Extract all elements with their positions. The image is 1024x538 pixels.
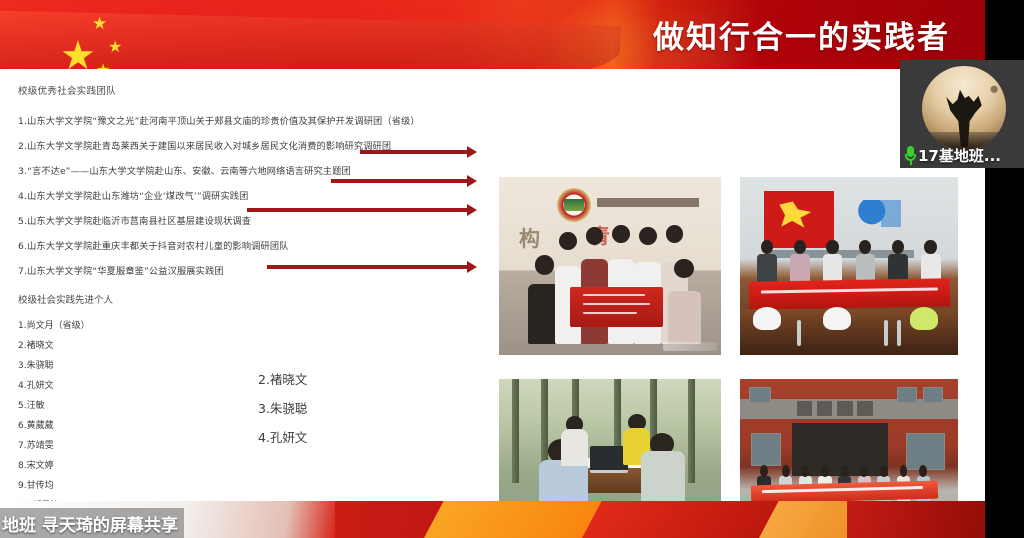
highlighted-name: 3.朱骁聪 [258, 398, 307, 417]
person-name: 5.汪敏 [18, 398, 45, 411]
meeting-screen-share-window: ★ ★ ★ ★ 做知行合一的实践者 校级优秀社会实践团队 1.山东大学文学院“豫… [0, 0, 1024, 538]
team-list-item: 6.山东大学文学院赴重庆丰都关于抖音对农村儿童的影响调研团队 [18, 232, 488, 257]
photo3-tree [512, 379, 519, 483]
photo1-person [668, 291, 701, 344]
footer-shape-5 [847, 501, 985, 538]
highlighted-name: 2.褚晓文 [258, 369, 307, 388]
photo4-window [923, 387, 943, 402]
person-name: 9.甘传均 [18, 478, 54, 491]
community-group-photo: 构 青 [499, 177, 721, 355]
participant-video-tile[interactable]: 17基地班... [900, 60, 1024, 168]
company-logo-icon [856, 200, 902, 227]
participant-name: 17基地班... [918, 145, 1001, 166]
slide-title-block: 做知行合一的实践者 [615, 0, 985, 69]
photo2-safety-hat [753, 307, 781, 330]
slide-header-banner: ★ ★ ★ ★ 做知行合一的实践者 [0, 0, 985, 69]
person-name: 1.尚文月（省级） [18, 318, 90, 331]
photo1-head [535, 255, 555, 275]
photo2-safety-hat [823, 307, 851, 330]
team-list-item: 4.山东大学文学院赴山东潍坊“企业‘煤改气’”调研实践团 [18, 182, 488, 207]
screen-share-notice-bar: 地班 寻天琦的屏幕共享 [0, 508, 184, 538]
photo4-window [906, 433, 945, 470]
team-item-text: 3.“言不达e”——山东大学文学院赴山东、安徽、云南等六地网络语言研究主题团 [18, 163, 351, 177]
persons-heading: 校级社会实践先进个人 [18, 292, 488, 306]
team-list-item: 2.山东大学文学院赴青岛莱西关于建国以来居民收入对城乡居民文化消费的影响研究调研… [18, 132, 488, 157]
team-list-item: 7.山东大学文学院“华夏服章鉴”公益汉服展实践团 [18, 257, 488, 282]
photo3-person [561, 429, 588, 466]
photo2-water-bottle [897, 320, 901, 346]
participant-label: 17基地班... [904, 145, 1001, 166]
team-list-item: 1.山东大学文学院“豫文之光”赴河南平顶山关于郏县文庙的珍贵价值及其保护开发调研… [18, 107, 488, 132]
team-item-text: 2.山东大学文学院赴青岛莱西关于建国以来居民收入对城乡居民文化消费的影响研究调研… [18, 138, 391, 152]
person-list-item: 5.汪敏 [18, 394, 488, 414]
community-emblem-icon [557, 188, 591, 222]
person-list-item: 6.黄葳葳 [18, 414, 488, 434]
person-list-item: 8.宋文婷 [18, 454, 488, 474]
person-list-item: 7.苏靖雯 [18, 434, 488, 454]
flag-star-large-icon: ★ [60, 36, 96, 69]
team-item-text: 7.山东大学文学院“华夏服章鉴”公益汉服展实践团 [18, 263, 224, 277]
photo3-tree [688, 379, 695, 483]
highlighted-names-column: 2.褚晓文 3.朱骁聪 4.孔妍文 [258, 369, 307, 456]
person-list-item: 1.尚文月（省级） [18, 314, 488, 334]
slide-body: 校级优秀社会实践团队 1.山东大学文学院“豫文之光”赴河南平顶山关于郏县文庙的珍… [0, 69, 985, 501]
highlighted-name: 4.孔妍文 [258, 427, 307, 446]
team-item-text: 6.山东大学文学院赴重庆丰都关于抖音对农村儿童的影响调研团队 [18, 238, 289, 252]
photo1-watermark [663, 342, 717, 351]
photo4-window [749, 387, 771, 402]
person-list-item: 4.孔妍文 [18, 374, 488, 394]
screen-share-notice-text: 地班 寻天琦的屏幕共享 [2, 511, 178, 536]
photo2-water-bottle [884, 320, 888, 346]
person-name: 7.苏靖雯 [18, 438, 54, 451]
photo1-wall-char-1: 构 [519, 223, 540, 253]
photo3-laptop [590, 446, 628, 473]
person-name: 6.黄葳葳 [18, 418, 54, 431]
photo1-head [612, 225, 630, 243]
photo1-head [666, 225, 684, 243]
team-item-text: 1.山东大学文学院“豫文之光”赴河南平顶山关于郏县文庙的珍贵价值及其保护开发调研… [18, 113, 420, 127]
photo4-window [751, 433, 782, 467]
photo4-school-nameplate [797, 401, 889, 416]
team-list-item: 3.“言不达e”——山东大学文学院赴山东、安徽、云南等六地网络语言研究主题团 [18, 157, 488, 182]
photo1-head [559, 232, 577, 250]
slide-title: 做知行合一的实践者 [653, 12, 950, 57]
slide-text-column: 校级优秀社会实践团队 1.山东大学文学院“豫文之光”赴河南平顶山关于郏县文庙的珍… [18, 83, 488, 514]
person-name: 3.朱骁聪 [18, 358, 54, 371]
flag-star-small-icon-1: ★ [92, 16, 107, 33]
person-name: 2.褚晓文 [18, 338, 54, 351]
enterprise-visit-photo [740, 177, 958, 355]
team-list-item: 5.山东大学文学院赴临沂市莒南县社区基层建设现状调查 [18, 207, 488, 232]
person-name: 4.孔妍文 [18, 378, 54, 391]
team-item-text: 5.山东大学文学院赴临沂市莒南县社区基层建设现状调查 [18, 213, 251, 227]
photo1-red-banner [570, 287, 663, 326]
person-list-item: 2.褚晓文 [18, 334, 488, 354]
microphone-icon[interactable] [904, 146, 917, 165]
photo4-window [897, 387, 917, 402]
person-list-item: 9.甘传均 [18, 474, 488, 494]
flag-star-small-icon-2: ★ [108, 39, 122, 55]
flag-star-small-icon-3: ★ [96, 62, 110, 69]
teams-heading: 校级优秀社会实践团队 [18, 83, 488, 97]
photo2-water-bottle [797, 320, 801, 346]
photo1-head [639, 227, 657, 245]
shared-slide: ★ ★ ★ ★ 做知行合一的实践者 校级优秀社会实践团队 1.山东大学文学院“豫… [0, 0, 985, 538]
avatar [922, 66, 1006, 150]
team-item-text: 4.山东大学文学院赴山东潍坊“企业‘煤改气’”调研实践团 [18, 188, 248, 202]
photo2-red-banner [748, 278, 949, 310]
photo1-wall-sign [597, 198, 704, 207]
photo1-head [586, 227, 604, 245]
person-list-item: 3.朱骁聪 [18, 354, 488, 374]
person-name: 8.宋文婷 [18, 458, 54, 471]
photo2-safety-hat [910, 307, 938, 330]
